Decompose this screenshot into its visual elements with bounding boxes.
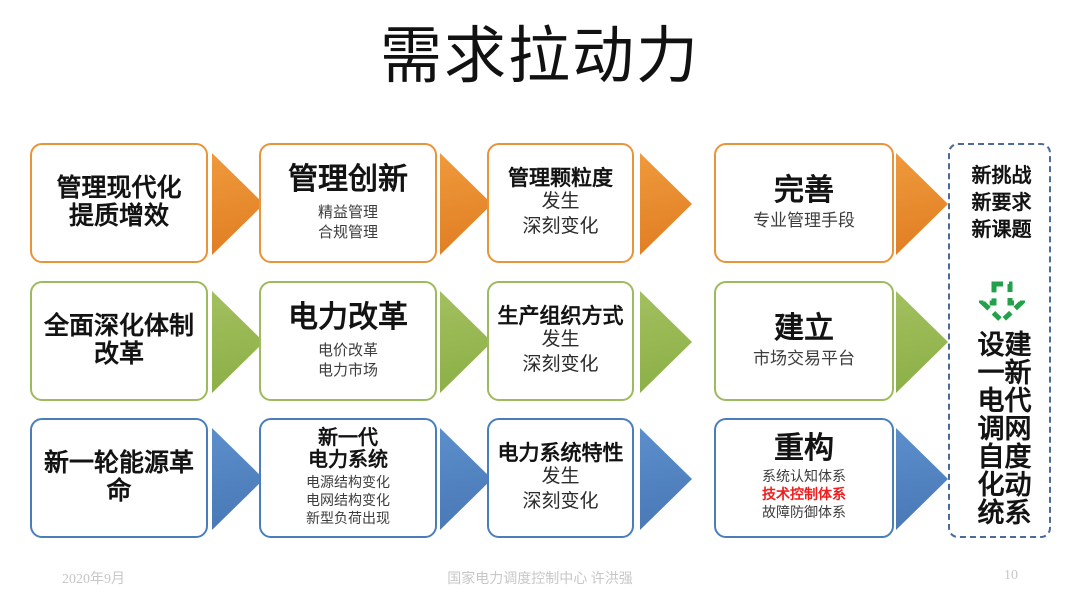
theme-sub-row2: 电价改革 电力市场 — [318, 342, 378, 381]
flow-arrow-icon-row3-3 — [640, 428, 692, 530]
change-sub-line: 发生 — [522, 328, 598, 353]
flow-row-reform: 全面深化体制 改革 电力改革 电价改革 电力市场 生产组织方式 发生 深刻变化 … — [0, 281, 1080, 401]
outcome-head-line: 新挑战 — [950, 163, 1053, 190]
action-sub-line: 系统认知体系 — [762, 469, 846, 487]
theme-sub-line: 电网结构变化 — [306, 493, 390, 511]
change-sub-line: 发生 — [522, 190, 598, 215]
action-sub-line: 故障防御体系 — [762, 505, 846, 523]
action-box-row2[interactable]: 建立 市场交易平台 — [714, 281, 894, 401]
theme-box-row1[interactable]: 管理创新 精益管理 合规管理 — [259, 143, 437, 263]
driver-line2-row2: 改革 — [94, 341, 144, 369]
flow-arrow-icon-row3-2 — [440, 428, 492, 530]
flow-arrow-icon-row2-3 — [640, 291, 692, 393]
change-sub-row1: 发生 深刻变化 — [522, 190, 598, 239]
action-sub-line: 专业管理手段 — [753, 210, 855, 232]
theme-sub-line: 电价改革 — [318, 342, 378, 362]
change-title-row3: 电力系统特性 — [498, 442, 624, 466]
change-title-row2: 生产组织方式 — [498, 305, 624, 329]
driver-line2-row1: 提质增效 — [69, 203, 169, 231]
theme-title-row2: 电力改革 — [288, 301, 408, 335]
flow-row-management: 管理现代化 提质增效 管理创新 精益管理 合规管理 管理颗粒度 发生 深刻变化 … — [0, 143, 1080, 263]
driver-box-row1[interactable]: 管理现代化 提质增效 — [30, 143, 208, 263]
change-sub-line: 深刻变化 — [522, 215, 598, 240]
driver-line1-row3: 新一轮能源革 — [44, 450, 194, 478]
change-sub-line: 深刻变化 — [522, 353, 598, 378]
theme-sub-line: 电力市场 — [318, 362, 378, 382]
flow-arrow-icon-row3-1 — [212, 428, 264, 530]
slide-footer: 2020年9月 国家电力调度控制中心 许洪强 10 — [0, 568, 1080, 596]
footer-page-number: 10 — [1004, 568, 1018, 584]
driver-line1-row1: 管理现代化 — [56, 175, 181, 203]
action-sub-row3: 系统认知体系 技术控制体系 故障防御体系 — [762, 469, 846, 524]
action-title-row1: 完善 — [774, 174, 834, 208]
footer-organization: 国家电力调度控制中心 许洪强 — [0, 568, 1080, 588]
theme-title-row1: 管理创新 — [288, 163, 408, 197]
slide-canvas: 需求拉动力 管理现代化 提质增效 管理创新 精益管理 合规管理 管理颗粒度 发生… — [0, 0, 1080, 608]
change-title-row1: 管理颗粒度 — [508, 167, 613, 191]
flow-arrow-icon-row1-4 — [896, 153, 948, 255]
action-sub-row1: 专业管理手段 — [753, 210, 855, 232]
flow-row-energy: 新一轮能源革 命 新一代 电力系统 电源结构变化 电网结构变化 新型负荷出现 电… — [0, 418, 1080, 538]
theme-title-line1-row3: 新一代 — [318, 427, 378, 449]
action-box-row3[interactable]: 重构 系统认知体系 技术控制体系 故障防御体系 — [714, 418, 894, 538]
outcome-panel-heading: 新挑战 新要求 新课题 — [950, 163, 1053, 244]
driver-box-row2[interactable]: 全面深化体制 改革 — [30, 281, 208, 401]
theme-title-line2-row3: 电力系统 — [308, 449, 388, 471]
driver-line2-row3: 命 — [106, 478, 131, 506]
outcome-vertical-col-left: 设一电调自化统 — [975, 330, 1002, 530]
flow-arrow-icon-row2-1 — [212, 291, 264, 393]
theme-sub-line: 电源结构变化 — [306, 475, 390, 493]
page-title: 需求拉动力 — [0, 22, 1080, 93]
outcome-vertical-col-right: 建新代网度动系 — [1002, 330, 1029, 530]
down-arrow-dashed-icon — [979, 281, 1025, 325]
theme-box-row2[interactable]: 电力改革 电价改革 电力市场 — [259, 281, 437, 401]
flow-arrow-icon-row3-4 — [896, 428, 948, 530]
theme-sub-line: 精益管理 — [318, 204, 378, 224]
flow-arrow-icon-row2-2 — [440, 291, 492, 393]
action-title-row2: 建立 — [774, 312, 834, 346]
theme-sub-line: 新型负荷出现 — [306, 511, 390, 529]
change-sub-line: 发生 — [522, 465, 598, 490]
action-box-row1[interactable]: 完善 专业管理手段 — [714, 143, 894, 263]
flow-arrow-icon-row2-4 — [896, 291, 948, 393]
action-sub-row2: 市场交易平台 — [753, 348, 855, 370]
change-sub-line: 深刻变化 — [522, 490, 598, 515]
outcome-head-line: 新要求 — [950, 190, 1053, 217]
driver-box-row3[interactable]: 新一轮能源革 命 — [30, 418, 208, 538]
change-sub-row3: 发生 深刻变化 — [522, 465, 598, 514]
theme-box-row3[interactable]: 新一代 电力系统 电源结构变化 电网结构变化 新型负荷出现 — [259, 418, 437, 538]
theme-sub-row3: 电源结构变化 电网结构变化 新型负荷出现 — [306, 475, 390, 530]
change-box-row1[interactable]: 管理颗粒度 发生 深刻变化 — [487, 143, 634, 263]
change-box-row3[interactable]: 电力系统特性 发生 深刻变化 — [487, 418, 634, 538]
flow-arrow-icon-row1-2 — [440, 153, 492, 255]
action-sub-line-highlight: 技术控制体系 — [762, 487, 846, 505]
flow-arrow-icon-row1-1 — [212, 153, 264, 255]
outcome-head-line: 新课题 — [950, 217, 1053, 244]
action-sub-line: 市场交易平台 — [753, 348, 855, 370]
driver-line1-row2: 全面深化体制 — [44, 313, 194, 341]
action-title-row3: 重构 — [774, 432, 834, 466]
change-sub-row2: 发生 深刻变化 — [522, 328, 598, 377]
outcome-panel[interactable]: 新挑战 新要求 新课题 建新代网度动系 设一电调自化统 — [948, 143, 1051, 538]
outcome-vertical-text: 建新代网度动系 设一电调自化统 — [950, 330, 1053, 530]
theme-sub-row1: 精益管理 合规管理 — [318, 204, 378, 243]
flow-arrow-icon-row1-3 — [640, 153, 692, 255]
change-box-row2[interactable]: 生产组织方式 发生 深刻变化 — [487, 281, 634, 401]
theme-sub-line: 合规管理 — [318, 224, 378, 244]
